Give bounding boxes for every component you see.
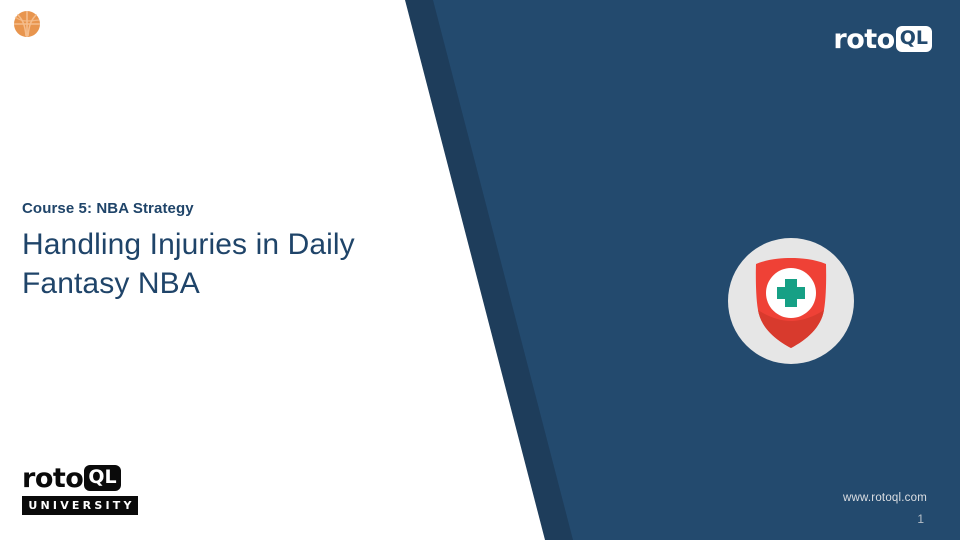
logo-badge: QL xyxy=(84,465,120,491)
logo-word: roto xyxy=(833,26,894,53)
course-label: Course 5: NBA Strategy xyxy=(22,200,422,217)
rotoql-university-logo: roto QL UNIVERSITY xyxy=(22,464,142,515)
page-number: 1 xyxy=(917,512,924,526)
page-title: Handling Injuries in Daily Fantasy NBA xyxy=(22,225,422,303)
basketball-icon xyxy=(13,10,41,38)
website-url: www.rotoql.com xyxy=(843,492,927,504)
slide: roto QL Course 5: NBA Strategy Handling … xyxy=(0,0,960,540)
university-bar: UNIVERSITY xyxy=(22,496,138,515)
rotoql-logo-top: roto QL xyxy=(833,24,932,54)
injury-shield-medallion xyxy=(728,238,854,364)
logo-wordmark-row: roto QL xyxy=(22,464,142,492)
university-label: UNIVERSITY xyxy=(25,500,134,511)
headline-block: Course 5: NBA Strategy Handling Injuries… xyxy=(22,200,422,303)
logo-word: roto xyxy=(22,465,83,492)
logo-badge: QL xyxy=(896,26,932,52)
